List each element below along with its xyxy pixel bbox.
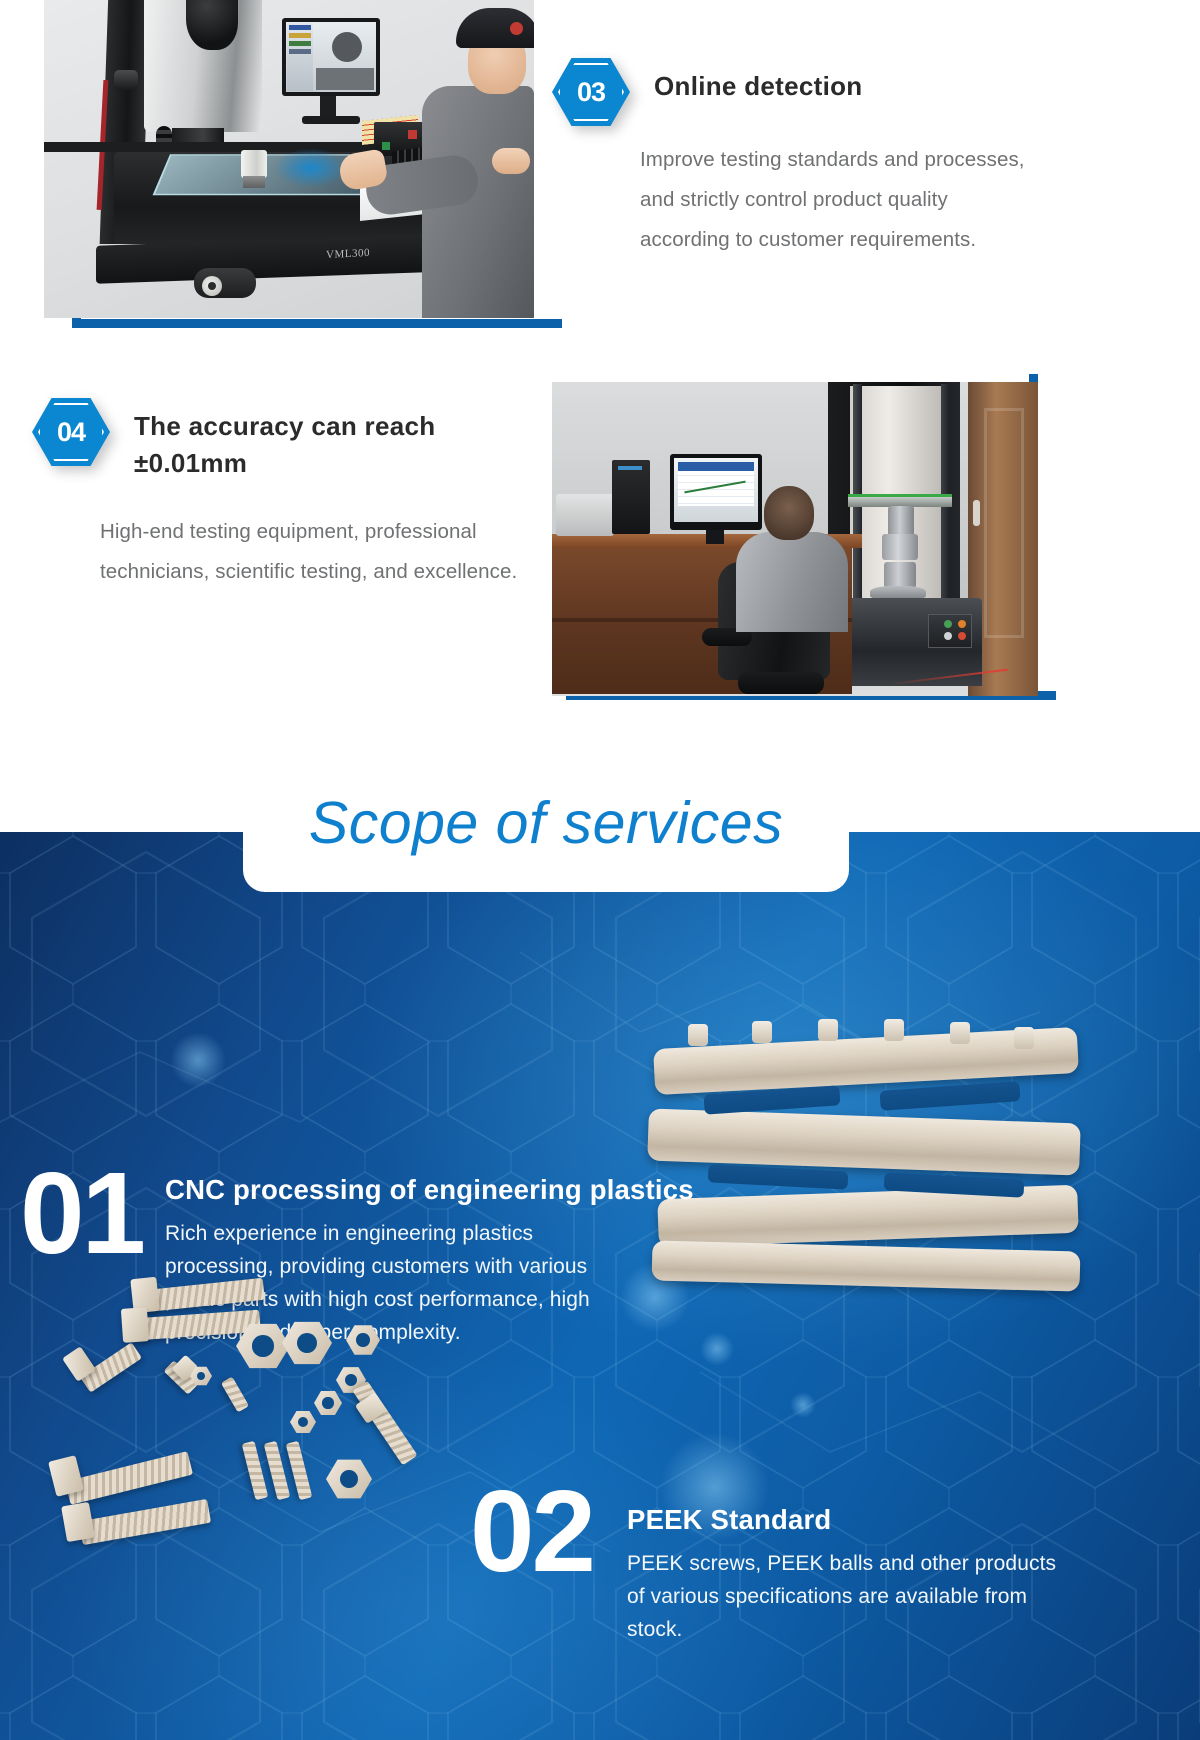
specimen-grip-middle — [882, 534, 918, 560]
nut-hole — [356, 1333, 370, 1347]
service-row: 02 PEEK Standard PEEK screws, PEEK balls… — [470, 1478, 1090, 1647]
link-tooth — [884, 1019, 904, 1041]
hexagon-badge-icon: 03 — [552, 58, 630, 126]
service-text-block: PEEK Standard PEEK screws, PEEK balls an… — [627, 1478, 1057, 1647]
software-row — [289, 25, 311, 30]
photo-tensile-testing-lab — [552, 382, 1038, 696]
sample-part-base — [243, 176, 265, 188]
monitor-base — [302, 116, 360, 124]
photo-optical-measuring-machine: VML300 — [44, 0, 534, 318]
technician-head — [764, 486, 814, 540]
indicator-light — [958, 632, 966, 640]
feature-header: 03 Online detection — [552, 58, 1052, 126]
peek-hex-nut — [346, 1324, 380, 1356]
indicator-light — [958, 620, 966, 628]
link-tooth — [752, 1021, 772, 1043]
service-description: PEEK screws, PEEK balls and other produc… — [627, 1548, 1057, 1647]
link-tooth — [818, 1019, 838, 1041]
machine-model-label: VML300 — [326, 247, 370, 261]
feature-description: High-end testing equipment, professional… — [100, 512, 530, 592]
feature-number: 04 — [32, 398, 110, 466]
feature-title: The accuracy can reach ±0.01mm — [134, 398, 479, 482]
peek-screw — [286, 1441, 313, 1500]
scope-of-services-banner: Scope of services — [243, 754, 849, 892]
software-row — [289, 33, 311, 38]
specimen-grip-upper — [888, 506, 914, 536]
peek-hex-nut — [282, 1320, 332, 1366]
feature-online-detection: 03 Online detection Improve testing stan… — [552, 58, 1052, 260]
nut-hole — [197, 1372, 206, 1381]
link-tooth — [688, 1024, 708, 1046]
glow-dot — [170, 1032, 226, 1088]
nut-hole — [297, 1333, 317, 1353]
camera-preview-tiles — [316, 68, 374, 90]
photo-frame-online-detection: VML300 — [32, 0, 534, 328]
service-title: CNC processing of engineering plastics — [165, 1174, 615, 1206]
feature-accuracy: 04 The accuracy can reach ±0.01mm High-e… — [32, 398, 532, 592]
roller-hub — [208, 282, 216, 290]
focus-knob — [114, 70, 138, 90]
glow-dot — [700, 1332, 734, 1366]
service-peek-standard: 02 PEEK Standard PEEK screws, PEEK balls… — [470, 1478, 1090, 1647]
photo-peek-screws-and-nuts — [40, 1262, 470, 1552]
service-title: PEEK Standard — [627, 1492, 1057, 1536]
peek-hex-nut — [326, 1458, 372, 1500]
measured-circle — [332, 32, 362, 62]
glow-dot — [790, 1392, 816, 1418]
sample-part — [241, 150, 267, 178]
peek-screw — [79, 1499, 211, 1545]
nut-hole — [345, 1374, 357, 1386]
nut-hole — [322, 1397, 333, 1408]
monitor-stand — [706, 530, 724, 544]
blue-ink-marking — [274, 148, 348, 188]
indicator-light — [944, 620, 952, 628]
photo-frame-tensile-testing — [552, 374, 1068, 700]
link-slot — [708, 1164, 849, 1189]
screw-head — [121, 1307, 149, 1343]
peek-screw — [352, 1381, 417, 1466]
link-tooth — [1014, 1027, 1034, 1049]
plastic-chain-link — [652, 1240, 1081, 1291]
cap-logo — [510, 22, 523, 35]
peek-screw — [135, 1310, 260, 1341]
monitor-stand — [320, 96, 336, 118]
operator-hand-right — [492, 148, 530, 174]
control-button-red — [408, 130, 417, 139]
features-section: VML300 — [0, 0, 1200, 832]
link-tooth — [950, 1022, 970, 1044]
peek-hex-nut — [314, 1390, 342, 1416]
feature-description: Improve testing standards and processes,… — [640, 140, 1032, 260]
scene-tensile-testing — [552, 382, 1038, 696]
screw-head — [48, 1455, 84, 1497]
software-row — [289, 41, 311, 46]
nut-hole — [252, 1335, 274, 1356]
office-chair-base — [738, 672, 824, 694]
peek-screw — [221, 1377, 249, 1413]
service-number: 02 — [470, 1478, 593, 1585]
nut-hole — [298, 1417, 308, 1428]
frame-accent-horizontal — [72, 319, 562, 328]
hexagon-badge-icon: 04 — [32, 398, 110, 466]
door-handle — [973, 500, 980, 526]
indicator-light — [944, 632, 952, 640]
feature-header: 04 The accuracy can reach ±0.01mm — [32, 398, 532, 482]
peek-hex-nut — [290, 1410, 316, 1434]
link-slot — [879, 1081, 1020, 1111]
section-title: Scope of services — [309, 789, 783, 857]
feature-number: 03 — [552, 58, 630, 126]
software-titlebar — [678, 462, 754, 471]
computer-tower — [612, 460, 650, 534]
technician-torso — [736, 532, 848, 632]
machine-control-panel — [928, 614, 972, 648]
printer — [556, 494, 614, 536]
feature-title: Online detection — [654, 58, 862, 105]
scene-optical-measuring: VML300 — [44, 0, 534, 318]
nut-hole — [340, 1470, 358, 1488]
service-number: 01 — [20, 1160, 143, 1267]
peek-screw — [143, 1278, 265, 1312]
control-button-green — [382, 142, 390, 150]
software-row — [289, 49, 311, 54]
peek-screw — [65, 1451, 193, 1505]
marketing-page: VML300 — [0, 0, 1200, 1740]
machine-lens-shade — [186, 0, 238, 50]
specimen-grip-lower — [884, 562, 916, 588]
tower-indicator — [618, 466, 642, 470]
screw-head — [61, 1502, 95, 1542]
photo-cnc-machined-plastic-parts — [648, 1030, 1080, 1292]
door-panel — [984, 408, 1024, 638]
